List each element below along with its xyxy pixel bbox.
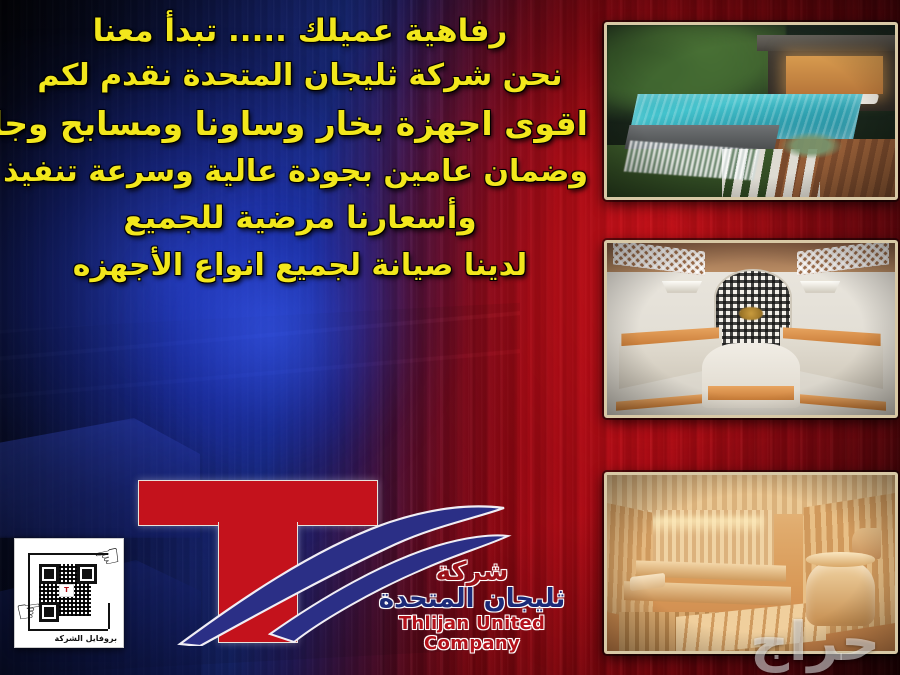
company-logo: شركة ثليجان المتحدة Thlijan United Compa… <box>130 468 600 660</box>
logo-wordmark: شركة ثليجان المتحدة Thlijan United Compa… <box>348 559 596 654</box>
headline-line-6: لدينا صيانة لجميع انواع الأجهزه <box>12 251 588 282</box>
pointing-hand-icon-bottom-left: ☞ <box>14 595 45 628</box>
pointing-hand-icon-top-right: ☞ <box>91 541 124 576</box>
headline-line-1: رفاهية عميلك ..... تبدأ معنا <box>12 16 588 48</box>
qr-center-logo: T <box>59 584 74 597</box>
hammam-vignette <box>607 243 895 415</box>
logo-arabic-line-2: ثليجان المتحدة <box>348 586 596 613</box>
headline-line-5: وأسعارنا مرضية للجميع <box>12 203 588 235</box>
logo-arabic-line-1: شركة <box>348 559 596 585</box>
advertisement-poster: رفاهية عميلك ..... تبدأ معنا نحن شركة ثل… <box>0 0 900 675</box>
headline-line-4: وضمان عامين بجودة عالية وسرعة تنفيذ <box>12 157 588 188</box>
qr-finder-top-right <box>77 564 97 584</box>
pool-vignette <box>607 25 895 197</box>
company-profile-qr-card[interactable]: T ☞ ☞ بروفايل الشركة <box>14 538 124 648</box>
photo-swimming-pool <box>604 22 898 200</box>
qr-finder-top-left <box>39 564 59 584</box>
logo-english-name: Thlijan United Company <box>348 614 596 654</box>
site-watermark: حراج <box>750 615 880 669</box>
hammam-scene <box>607 243 895 415</box>
photo-turkish-steam-bath <box>604 240 898 418</box>
headline-line-2: نحن شركة ثليجان المتحدة نقدم لكم <box>12 61 588 92</box>
pool-scene <box>607 25 895 197</box>
headline-line-3: اقوى اجهزة بخار وساونا ومسابح وجاكوزي <box>12 107 588 141</box>
headline-block: رفاهية عميلك ..... تبدأ معنا نحن شركة ثل… <box>12 16 588 282</box>
qr-caption: بروفايل الشركة <box>55 634 118 643</box>
